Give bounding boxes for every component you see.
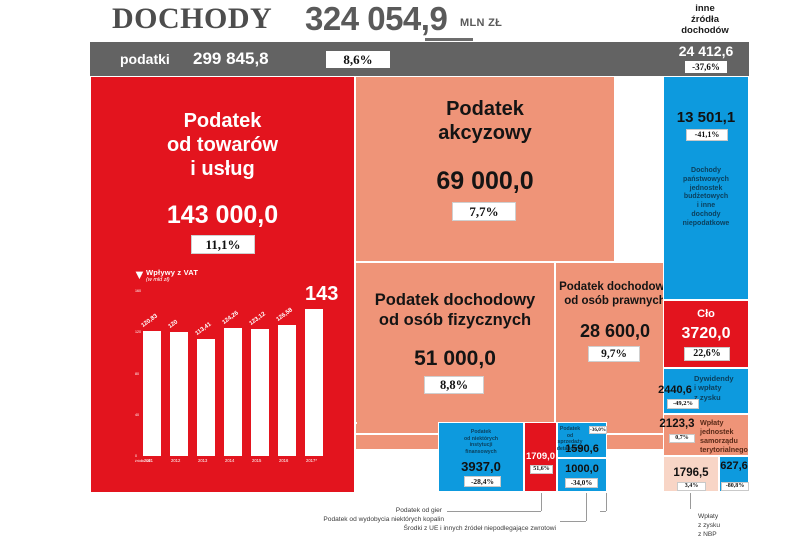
- callout-leader-4: [690, 493, 691, 509]
- vat-chart-bar-label: 113,41: [194, 322, 212, 337]
- treemap-cell-retail-sales-tax-value: 1590,6: [558, 443, 606, 455]
- treemap-cell-mining-tax[interactable]: 1000,0 -34,0%: [557, 458, 607, 492]
- treemap-cell-mining-tax-percent: -34,0%: [565, 478, 598, 488]
- treemap-cell-financial-institutions-tax-percent: -28,4%: [464, 476, 501, 487]
- vat-chart-xtick: 2013: [198, 458, 207, 463]
- vat-chart-ytick: 80: [135, 372, 139, 376]
- vat-chart-bar-label: 143: [305, 283, 338, 306]
- treemap-cell-cit-title: Podatek dochodowy od osób prawnych: [556, 281, 674, 309]
- treemap-cell-pit[interactable]: Podatek dochodowy od osób fizycznych 51 …: [355, 262, 555, 434]
- callout-text-mining: Podatek od wydobycia niektórych kopalin: [228, 516, 444, 523]
- down-arrow-icon: ▼: [133, 269, 142, 281]
- vat-chart-xtick: 2015: [252, 458, 261, 463]
- total-revenue-value: 324 054,9: [305, 0, 447, 38]
- treemap-cell-customs-duty-title: Cło: [664, 308, 748, 322]
- vat-chart-bar-label: 126,58: [275, 308, 293, 324]
- treemap-cell-cit-percent: 9,7%: [588, 346, 640, 362]
- vat-chart-bar-label: 123,12: [248, 311, 266, 327]
- callout-labels: Podatek od gier Podatek od wydobycia nie…: [0, 493, 805, 547]
- total-revenue-unit: MLN ZŁ: [460, 17, 502, 29]
- other-sources-caption-line3: dochodów: [662, 25, 748, 36]
- treemap-cell-eu-funds[interactable]: 1796,5 3,4%: [663, 456, 719, 492]
- vat-chart-subtitle: (w mld zł): [146, 277, 170, 283]
- callout-leader-2: [586, 493, 587, 521]
- treemap-cell-gambling-tax-value: 1709,0: [525, 451, 556, 462]
- vat-chart-credit: źródło: MF: [135, 459, 151, 463]
- treemap-cell-excise-value: 69 000,0: [356, 167, 614, 196]
- callout-leader-3: [606, 493, 607, 511]
- treemap-cell-pit-value: 51 000,0: [356, 347, 554, 371]
- treemap-cell-customs-duty-percent: 22,6%: [684, 347, 730, 361]
- treemap-cell-mining-tax-value: 1000,0: [558, 463, 606, 475]
- vat-chart-bar-label: 120,83: [140, 314, 158, 330]
- treemap-cell-gambling-tax-percent: 51,6%: [530, 465, 553, 474]
- treemap-spacer: [355, 422, 357, 424]
- treemap-cell-budget-units-income-value: 13 501,1: [664, 109, 748, 126]
- other-sources-caption-line1: inne: [662, 3, 748, 14]
- callout-connector-2: [560, 521, 586, 522]
- other-sources-caption: inne źródła dochodów: [662, 3, 748, 37]
- treemap-cell-pit-percent: 8,8%: [424, 376, 484, 394]
- vat-chart-bar: [224, 328, 242, 456]
- treemap-cell-dividends[interactable]: Dywidendy i wpłaty z zysku 2440,6 -49,2%: [663, 368, 749, 414]
- treemap-cell-retail-sales-tax-percent: -36,0%: [589, 426, 607, 434]
- treemap-cell-budget-units-income[interactable]: 13 501,1 -41,1% Dochody państwowych jedn…: [663, 76, 749, 300]
- callout-text-eu-funds: Środki z UE i innych źródeł niepodlegają…: [240, 525, 556, 532]
- vat-chart-bar: [251, 329, 269, 456]
- callout-text-gambling: Podatek od gier: [330, 507, 442, 514]
- callout-connector-3: [600, 511, 606, 512]
- treemap-cell-vat-title: Podatek od towarów i usług: [91, 109, 354, 181]
- taxes-label: podatki: [120, 51, 170, 67]
- vat-chart-bar: [197, 339, 215, 456]
- treemap-cell-dividends-value: 2440,6: [632, 384, 718, 396]
- vat-chart-bar: [143, 331, 161, 456]
- vat-chart-xtick: 2012: [171, 458, 180, 463]
- treemap-cell-nbp-profit-value: 627,6: [720, 460, 748, 472]
- treemap-cell-excise-percent: 7,7%: [452, 202, 516, 221]
- treemap-cell-nbp-profit[interactable]: 627,6 -80,8%: [719, 456, 749, 492]
- treemap-cell-eu-funds-value: 1796,5: [664, 467, 718, 479]
- callout-connector-1: [447, 511, 541, 512]
- vat-chart-ytick: 40: [135, 413, 139, 417]
- other-sources-value: 24 412,6: [663, 43, 749, 59]
- treemap-cell-vat-value: 143 000,0: [91, 201, 354, 230]
- treemap-cell-local-government-payments[interactable]: Wpłaty jednostek samorządu terytorialneg…: [663, 414, 749, 456]
- treemap-cell-pit-title: Podatek dochodowy od osób fizycznych: [356, 291, 554, 331]
- callout-text-nbp: Wpłaty z zysku z NBP: [698, 513, 758, 540]
- treemap-cell-budget-units-income-percent: -41,1%: [686, 129, 728, 141]
- taxes-percent-badge: 8,6%: [326, 51, 390, 68]
- page-title: DOCHODY: [112, 2, 272, 36]
- vat-chart-bar: [305, 309, 323, 456]
- treemap-cell-dividends-percent: -49,2%: [667, 399, 699, 409]
- taxes-value: 299 845,8: [193, 49, 269, 69]
- vat-chart-ytick: 0: [135, 454, 137, 458]
- treemap: Podatek od towarów i usług 143 000,0 11,…: [90, 76, 749, 493]
- vat-chart-ytick: 160: [135, 289, 141, 293]
- treemap-cell-financial-institutions-tax[interactable]: Podatek od niektórych instytucji finanso…: [438, 422, 524, 492]
- vat-mini-chart: ▼ Wpływy z VAT (w mld zł) 16012080400120…: [133, 269, 323, 469]
- title-underline: [425, 38, 473, 41]
- vat-chart-xtick: 2017*: [306, 458, 317, 463]
- treemap-cell-local-government-payments-percent: 0,7%: [669, 434, 695, 443]
- treemap-cell-eu-funds-percent: 3,4%: [677, 482, 706, 491]
- treemap-cell-customs-duty-value: 3720,0: [664, 325, 748, 343]
- treemap-cell-excise[interactable]: Podatek akcyzowy 69 000,0 7,7%: [355, 76, 615, 262]
- vat-chart-bar: [278, 325, 296, 456]
- vat-chart-title: Wpływy z VAT: [146, 268, 198, 277]
- treemap-cell-budget-units-income-title: Dochody państwowych jednostek budżetowyc…: [664, 167, 748, 228]
- other-sources-caption-line2: źródła: [662, 14, 748, 25]
- treemap-cell-cit-value: 28 600,0: [556, 321, 674, 342]
- header: DOCHODY 324 054,9 MLN ZŁ inne źródła doc…: [0, 0, 805, 42]
- taxes-summary-bar: podatki 299 845,8 8,6%: [90, 42, 663, 76]
- vat-chart-xtick: 2016: [279, 458, 288, 463]
- treemap-cell-vat-percent: 11,1%: [191, 235, 255, 254]
- infographic-root: DOCHODY 324 054,9 MLN ZŁ inne źródła doc…: [0, 0, 805, 547]
- vat-chart-ytick: 120: [135, 330, 141, 334]
- other-sources-summary-bar: 24 412,6 -37,6%: [663, 42, 749, 76]
- treemap-cell-local-government-payments-value: 2123,3: [634, 418, 720, 430]
- treemap-cell-retail-sales-tax[interactable]: Podatek od sprzedaży detalicznej -36,0% …: [557, 422, 607, 458]
- treemap-cell-cit[interactable]: Podatek dochodowy od osób prawnych 28 60…: [555, 262, 675, 434]
- treemap-cell-financial-institutions-tax-title: Podatek od niektórych instytucji finanso…: [439, 429, 523, 455]
- other-sources-percent-badge: -37,6%: [685, 61, 727, 73]
- treemap-cell-nbp-profit-percent: -80,8%: [721, 482, 749, 491]
- treemap-cell-financial-institutions-tax-value: 3937,0: [439, 459, 523, 474]
- treemap-cell-vat[interactable]: Podatek od towarów i usług 143 000,0 11,…: [90, 76, 355, 493]
- vat-chart-bar: [170, 332, 188, 456]
- vat-chart-plot: 16012080400120,8320111202012113,41201312…: [143, 291, 323, 456]
- callout-leader-1: [541, 493, 542, 511]
- vat-chart-xtick: 2014: [225, 458, 234, 463]
- treemap-cell-excise-title: Podatek akcyzowy: [356, 97, 614, 145]
- vat-chart-bar-label: 124,26: [221, 310, 239, 326]
- treemap-cell-customs-duty[interactable]: Cło 3720,0 22,6%: [663, 300, 749, 368]
- vat-chart-bar-label: 120: [167, 320, 179, 331]
